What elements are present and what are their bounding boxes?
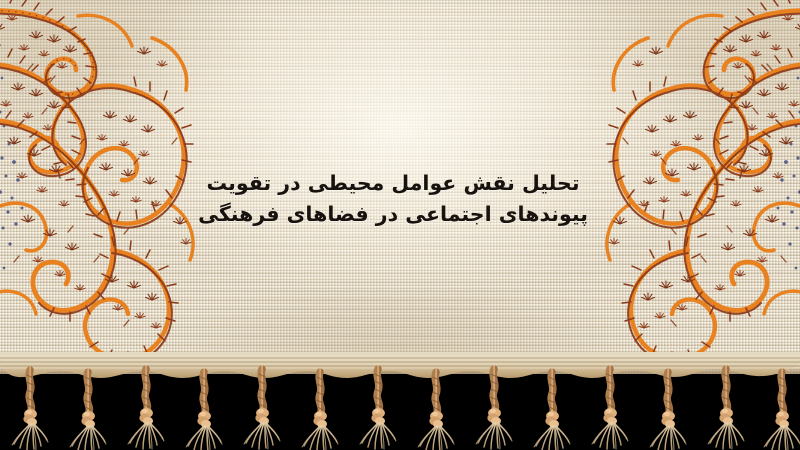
slide-title: تحلیل نقش عوامل محیطی در تقویت پیوندهای … — [0, 168, 800, 230]
tassel-group — [12, 369, 800, 450]
title-line-2: پیوندهای اجتماعی در فضاهای فرهنگی — [198, 199, 588, 230]
tassel-fringe — [0, 352, 800, 450]
title-line-1: تحلیل نقش عوامل محیطی در تقویت — [198, 168, 588, 199]
slide-canvas: تحلیل نقش عوامل محیطی در تقویت پیوندهای … — [0, 0, 800, 450]
